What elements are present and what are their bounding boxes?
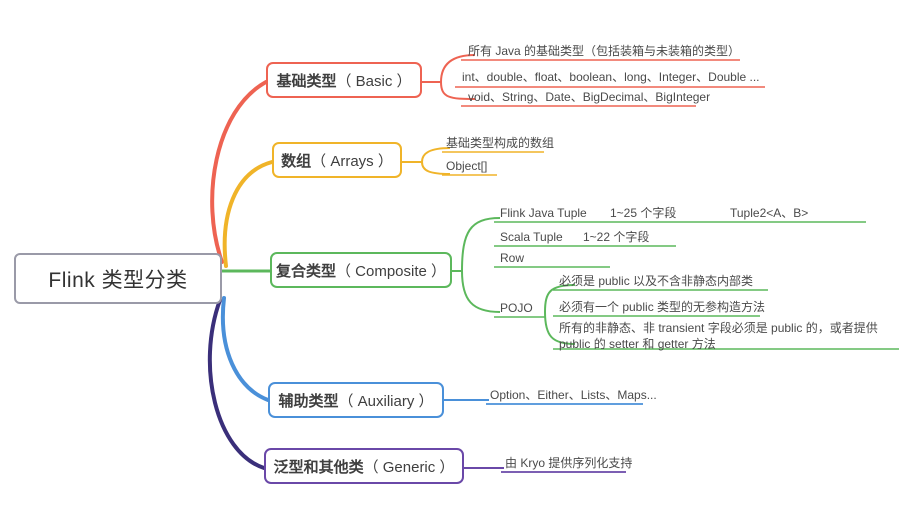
branch-composite-label-cn: 复合类型 <box>276 260 336 281</box>
root-node-label: Flink 类型分类 <box>48 264 187 294</box>
pojo-rule-1[interactable]: 必须有一个 public 类型的无参构造方法 <box>559 300 765 317</box>
leaf-composite-0[interactable]: Flink Java Tuple1~25 个字段Tuple2<A、B> <box>500 206 808 223</box>
leaf-basic-1[interactable]: int、double、float、boolean、long、Integer、Do… <box>462 70 760 87</box>
leaf-composite-1-name: Scala Tuple <box>500 230 583 245</box>
branch-arrays-label-cn: 数组 <box>281 150 311 171</box>
branch-node-arrays[interactable]: 数组（ Arrays ） <box>272 142 402 178</box>
branch-auxiliary-label-en: （ Auxiliary ） <box>339 390 434 411</box>
leaf-composite-0-name: Flink Java Tuple <box>500 206 610 221</box>
pojo-rule-2[interactable]: 所有的非静态、非 transient 字段必须是 public 的，或者提供 p… <box>559 320 899 354</box>
mindmap-canvas: Flink 类型分类 基础类型（ Basic ） 所有 Java 的基础类型（包… <box>0 0 911 514</box>
leaf-composite-0-count: 1~25 个字段 <box>610 206 730 221</box>
leaf-composite-1[interactable]: Scala Tuple1~22 个字段 <box>500 230 649 247</box>
branch-node-composite[interactable]: 复合类型（ Composite ） <box>270 252 452 288</box>
branch-generic-label-en: （ Generic ） <box>364 456 455 477</box>
leaf-auxiliary-0[interactable]: Option、Either、Lists、Maps... <box>490 388 657 405</box>
leaf-composite-3[interactable]: POJO <box>500 301 533 318</box>
root-node[interactable]: Flink 类型分类 <box>14 253 222 304</box>
connector-composite-fan <box>462 218 500 312</box>
branch-node-basic[interactable]: 基础类型（ Basic ） <box>266 62 422 98</box>
leaf-composite-2[interactable]: Row <box>500 251 524 268</box>
branch-auxiliary-label-cn: 辅助类型 <box>278 390 338 411</box>
leaf-basic-2[interactable]: void、String、Date、BigDecimal、BigInteger <box>468 90 710 107</box>
leaf-generic-0[interactable]: 由 Kryo 提供序列化支持 <box>505 456 632 473</box>
branch-arrays-label-en: （ Arrays ） <box>311 150 393 171</box>
connector-root-to-basic <box>212 82 266 262</box>
connector-root-to-arrays <box>225 162 272 266</box>
connector-root-to-generic <box>210 300 264 468</box>
pojo-rule-0[interactable]: 必须是 public 以及不含非静态内部类 <box>559 274 753 291</box>
branch-composite-label-en: （ Composite ） <box>336 260 446 281</box>
leaf-composite-1-count: 1~22 个字段 <box>583 230 649 244</box>
branch-generic-label-cn: 泛型和其他类 <box>274 456 364 477</box>
branch-basic-label-cn: 基础类型 <box>276 70 336 91</box>
branch-node-generic[interactable]: 泛型和其他类（ Generic ） <box>264 448 464 484</box>
branch-node-auxiliary[interactable]: 辅助类型（ Auxiliary ） <box>268 382 444 418</box>
leaf-basic-0[interactable]: 所有 Java 的基础类型（包括装箱与未装箱的类型） <box>468 44 740 61</box>
connector-root-to-auxiliary <box>223 298 268 400</box>
leaf-arrays-0[interactable]: 基础类型构成的数组 <box>446 136 554 153</box>
branch-basic-label-en: （ Basic ） <box>337 70 412 91</box>
leaf-arrays-1[interactable]: Object[] <box>446 159 487 176</box>
leaf-composite-0-example: Tuple2<A、B> <box>730 206 808 220</box>
